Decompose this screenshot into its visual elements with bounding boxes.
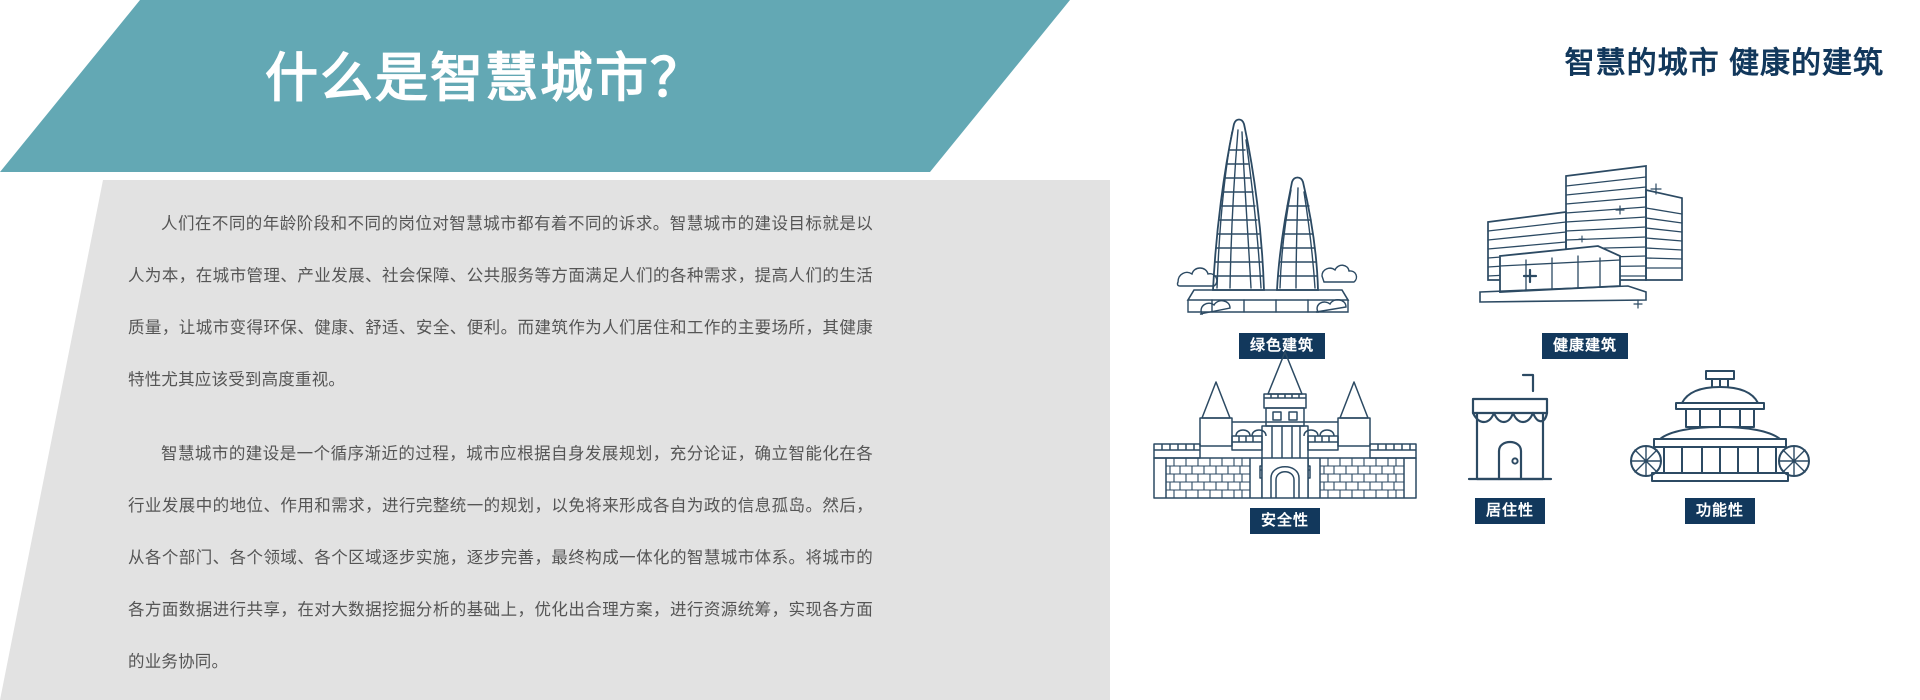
paragraph-2: 智慧城市的建设是一个循序渐近的过程，城市应根据自身发展规划，充分论证，确立智能化… [128,428,873,688]
body-paragraphs: 人们在不同的年龄阶段和不同的岗位对智慧城市都有着不同的诉求。智慧城市的建设目标就… [128,198,873,688]
house-icon [1455,365,1565,490]
paragraph-1: 人们在不同的年龄阶段和不同的岗位对智慧城市都有着不同的诉求。智慧城市的建设目标就… [128,198,873,406]
illustration-label-wrap: 功能性 [1590,498,1850,524]
illustration-label-wrap: 健康建筑 [1420,333,1750,359]
left-content-column: 什么是智慧城市？ 人们在不同的年龄阶段和不同的岗位对智慧城市都有着不同的诉求。智… [0,0,1120,700]
label-function: 功能性 [1685,498,1755,524]
label-health-building: 健康建筑 [1542,333,1628,359]
right-illustration-column: 智慧的城市 健康的建筑 [1120,0,1920,700]
page-title: 什么是智慧城市？ [265,36,705,112]
illustration-label-wrap: 安全性 [1110,508,1460,534]
illustration-cell-living: 居住性 [1410,365,1610,524]
illustration-cell-green-building: 绿色建筑 [1132,100,1432,359]
label-safety: 安全性 [1250,508,1320,534]
hospital-block-icon [1470,160,1700,325]
illustration-grid: 绿色建筑 [1120,100,1920,680]
right-heading: 智慧的城市 健康的建筑 [1565,38,1884,82]
castle-icon [1140,350,1430,500]
pavilion-icon [1630,365,1810,490]
illustration-cell-health-building: 健康建筑 [1420,160,1750,359]
label-living: 居住性 [1475,498,1545,524]
illustration-label-wrap: 居住性 [1410,498,1610,524]
illustration-cell-safety: 安全性 [1110,350,1460,534]
twin-towers-icon [1172,100,1392,325]
illustration-cell-function: 功能性 [1590,365,1850,524]
